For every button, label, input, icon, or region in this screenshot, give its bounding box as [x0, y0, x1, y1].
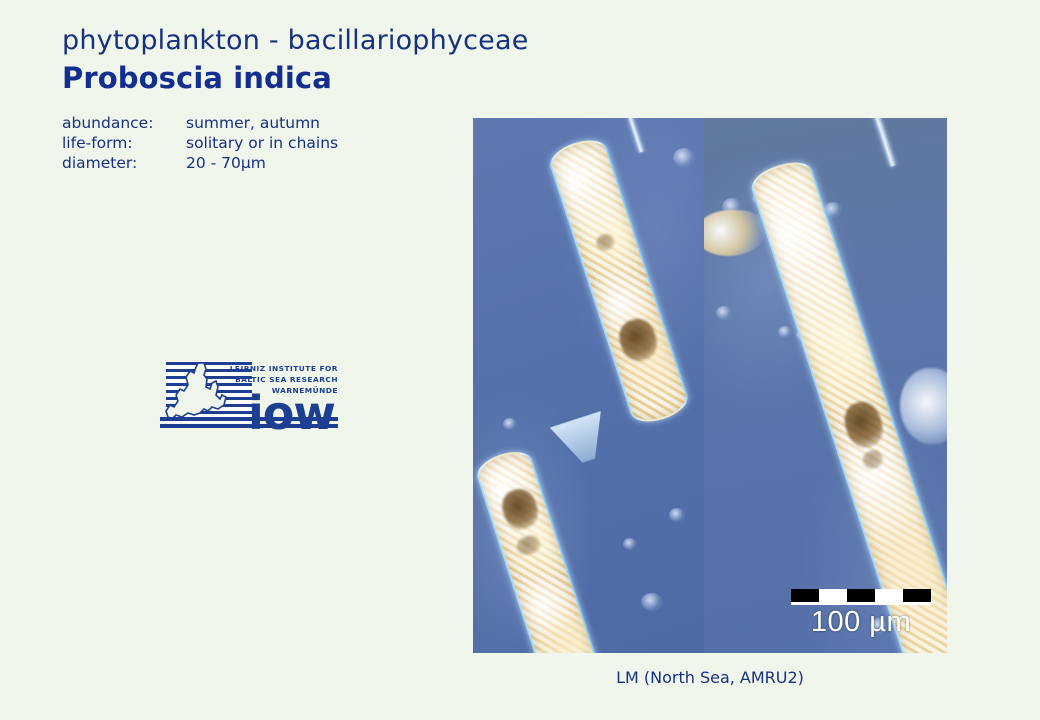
attribute-value-abundance: summer, autumn: [186, 113, 338, 133]
debris-particle: [641, 593, 663, 611]
debris-particle: [716, 306, 732, 320]
logo-line-3: WARNEMÜNDE: [272, 386, 338, 395]
scale-bar-segment: [903, 589, 931, 602]
attribute-table: abundance: summer, autumn life-form: sol…: [62, 113, 338, 174]
scale-bar-label: 100 µm: [791, 608, 931, 637]
species-name: Proboscia indica: [62, 62, 452, 95]
debris-particle: [503, 418, 517, 430]
debris-particle: [778, 326, 792, 338]
scale-bar-segment: [819, 589, 847, 602]
micrograph-panel-right: 100 µm: [704, 118, 947, 653]
image-caption: LM (North Sea, AMRU2): [473, 668, 947, 687]
scale-bar: [791, 589, 931, 605]
logo-line-1: LEIBNIZ INSTITUTE FOR: [230, 364, 338, 373]
attribute-label-abundance: abundance:: [62, 113, 186, 133]
info-panel: phytoplankton - bacillariophyceae Probos…: [62, 26, 452, 174]
iow-logo-graphic: iow LEIBNIZ INSTITUTE FOR BALTIC SEA RES…: [160, 361, 340, 441]
group-heading: phytoplankton - bacillariophyceae: [62, 26, 452, 56]
attribute-label-diameter: diameter:: [62, 153, 186, 173]
scale-bar-group: 100 µm: [791, 589, 931, 637]
debris-particle: [623, 538, 637, 550]
iow-logo: iow LEIBNIZ INSTITUTE FOR BALTIC SEA RES…: [160, 361, 340, 441]
attribute-value-diameter: 20 - 70µm: [186, 153, 338, 173]
scale-bar-segment: [875, 589, 903, 602]
debris-particle: [673, 148, 695, 168]
scale-bar-segment: [791, 589, 819, 602]
micrograph-panel-left: [473, 118, 704, 653]
scale-bar-segment: [847, 589, 875, 602]
micrograph-image: 100 µm: [473, 118, 947, 653]
attribute-label-life-form: life-form:: [62, 133, 186, 153]
debris-particle: [669, 508, 685, 522]
table-row: life-form: solitary or in chains: [62, 133, 338, 153]
table-row: abundance: summer, autumn: [62, 113, 338, 133]
logo-line-2: BALTIC SEA RESEARCH: [235, 375, 338, 384]
table-row: diameter: 20 - 70µm: [62, 153, 338, 173]
attribute-value-life-form: solitary or in chains: [186, 133, 338, 153]
